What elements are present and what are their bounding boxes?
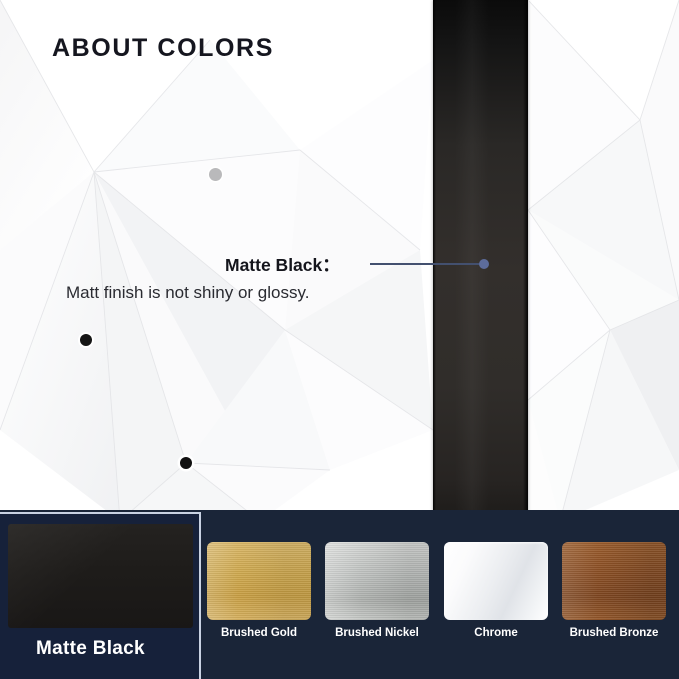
- callout-leader-dot: [479, 259, 489, 269]
- swatch-chip-brushed-bronze[interactable]: [562, 542, 666, 620]
- callout-description: Matt finish is not shiny or glossy.: [66, 283, 309, 303]
- swatch-label-brushed-nickel: Brushed Nickel: [325, 627, 429, 639]
- swatch-chip-brushed-nickel[interactable]: [325, 542, 429, 620]
- swatch-card-brushed-bronze[interactable]: Brushed Bronze: [562, 542, 666, 639]
- stripe-left-edge: [433, 0, 436, 521]
- stripe-right-edge: [523, 0, 528, 521]
- black-marker-dot-lower: [180, 457, 192, 469]
- swatch-card-brushed-nickel[interactable]: Brushed Nickel: [325, 542, 429, 639]
- swatch-label-brushed-gold: Brushed Gold: [207, 627, 311, 639]
- callout-leader-line: [370, 263, 483, 265]
- swatch-label-matte-black: Matte Black: [36, 638, 145, 660]
- black-marker-dot-upper: [80, 334, 92, 346]
- swatch-chip-brushed-gold[interactable]: [207, 542, 311, 620]
- swatch-chip-chrome[interactable]: [444, 542, 548, 620]
- swatch-card-chrome[interactable]: Chrome: [444, 542, 548, 639]
- swatch-card-brushed-gold[interactable]: Brushed Gold: [207, 542, 311, 639]
- page-title: ABOUT COLORS: [52, 34, 274, 63]
- swatch-card-selected[interactable]: Matte Black: [0, 512, 201, 679]
- gray-marker-dot: [209, 168, 222, 181]
- swatch-chip-matte-black[interactable]: [8, 524, 193, 628]
- callout-label: Matte Black：: [225, 252, 340, 277]
- swatch-label-brushed-bronze: Brushed Bronze: [562, 627, 666, 639]
- about-colors-panel: ABOUT COLORS Matte Black： Matt finish is…: [0, 0, 679, 679]
- swatch-label-chrome: Chrome: [444, 627, 548, 639]
